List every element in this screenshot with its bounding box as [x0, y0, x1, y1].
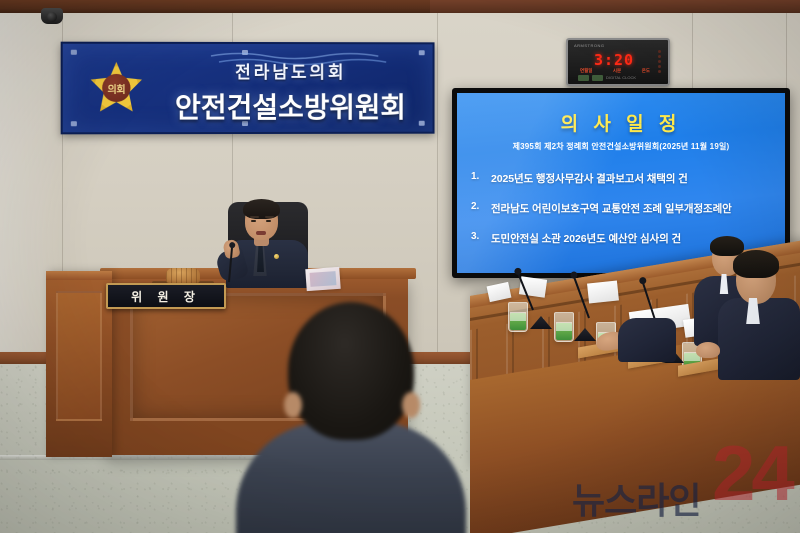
lapel-badge-icon	[274, 254, 279, 259]
podium-documents	[305, 267, 340, 291]
slide-subtitle: 제395회 제2차 정례회 안전건설소방위원회(2025년 11월 19일)	[457, 141, 785, 152]
council-member	[596, 318, 666, 378]
slide-title: 의 사 일 정	[457, 109, 785, 136]
member-hand	[696, 342, 720, 358]
member-nameplate	[530, 316, 552, 329]
attendee-ear	[402, 392, 420, 418]
nameplate-label: 위 원 장	[131, 288, 201, 305]
member-nameplate	[574, 328, 596, 341]
paper-sheet	[487, 282, 512, 302]
clock-footer: DIGITAL CLOCK	[578, 74, 660, 81]
ceiling-camera-icon	[41, 8, 63, 24]
chairperson-hair	[243, 199, 280, 219]
podium-side-block	[46, 271, 112, 457]
water-cup	[508, 302, 528, 332]
agenda-item-text: 2025년도 행정사무감사 결과보고서 채택의 건	[491, 171, 688, 186]
agenda-item-text: 도민안전실 소관 2026년도 예산안 심사의 건	[491, 231, 681, 246]
foreground-attendee	[236, 300, 466, 533]
banner-org-name: 전라남도의회	[160, 58, 421, 83]
chairperson-mouth	[256, 231, 266, 235]
paper-sheet	[587, 280, 619, 303]
chairperson-nameplate: 위 원 장	[106, 283, 226, 309]
member-suit	[718, 298, 800, 380]
clock-foot-label: DIGITAL CLOCK	[606, 75, 636, 80]
attendee-head-back	[288, 302, 414, 440]
clock-brand-label: ARMSTRONG	[574, 43, 605, 48]
member-suit	[618, 318, 676, 362]
emblem-label: 의회	[108, 80, 126, 95]
clock-indicator-dots	[658, 50, 661, 73]
assembly-emblem-icon: 의회	[89, 62, 144, 114]
agenda-item-number: 1.	[471, 171, 491, 182]
member-hair	[733, 250, 779, 278]
banner-text-block: 전라남도의회 안전건설소방위원회	[160, 58, 421, 126]
agenda-item-text: 전라남도 어린이보호구역 교통안전 조례 일부개정조례안	[491, 201, 732, 216]
committee-banner: 의회 전라남도의회 안전건설소방위원회	[61, 42, 435, 135]
agenda-item-number: 2.	[471, 201, 491, 212]
agenda-item-number: 3.	[471, 231, 491, 242]
led-wall-clock: ARMSTRONG 3:20 연월일 시분 온도 DIGITAL CLOCK	[566, 38, 670, 86]
agenda-item: 2. 전라남도 어린이보호구역 교통안전 조례 일부개정조례안	[471, 201, 775, 216]
agenda-item: 1. 2025년도 행정사무감사 결과보고서 채택의 건	[471, 171, 775, 186]
water-cup	[554, 312, 574, 342]
attendee-ear	[284, 392, 302, 418]
meeting-room-photo: 의회 전라남도의회 안전건설소방위원회 ARMSTRONG 3:20 연월일 시…	[0, 0, 800, 533]
banner-committee-name: 안전건설소방위원회	[160, 86, 421, 126]
council-member	[718, 238, 800, 378]
clock-time-display: 3:20	[578, 51, 650, 69]
